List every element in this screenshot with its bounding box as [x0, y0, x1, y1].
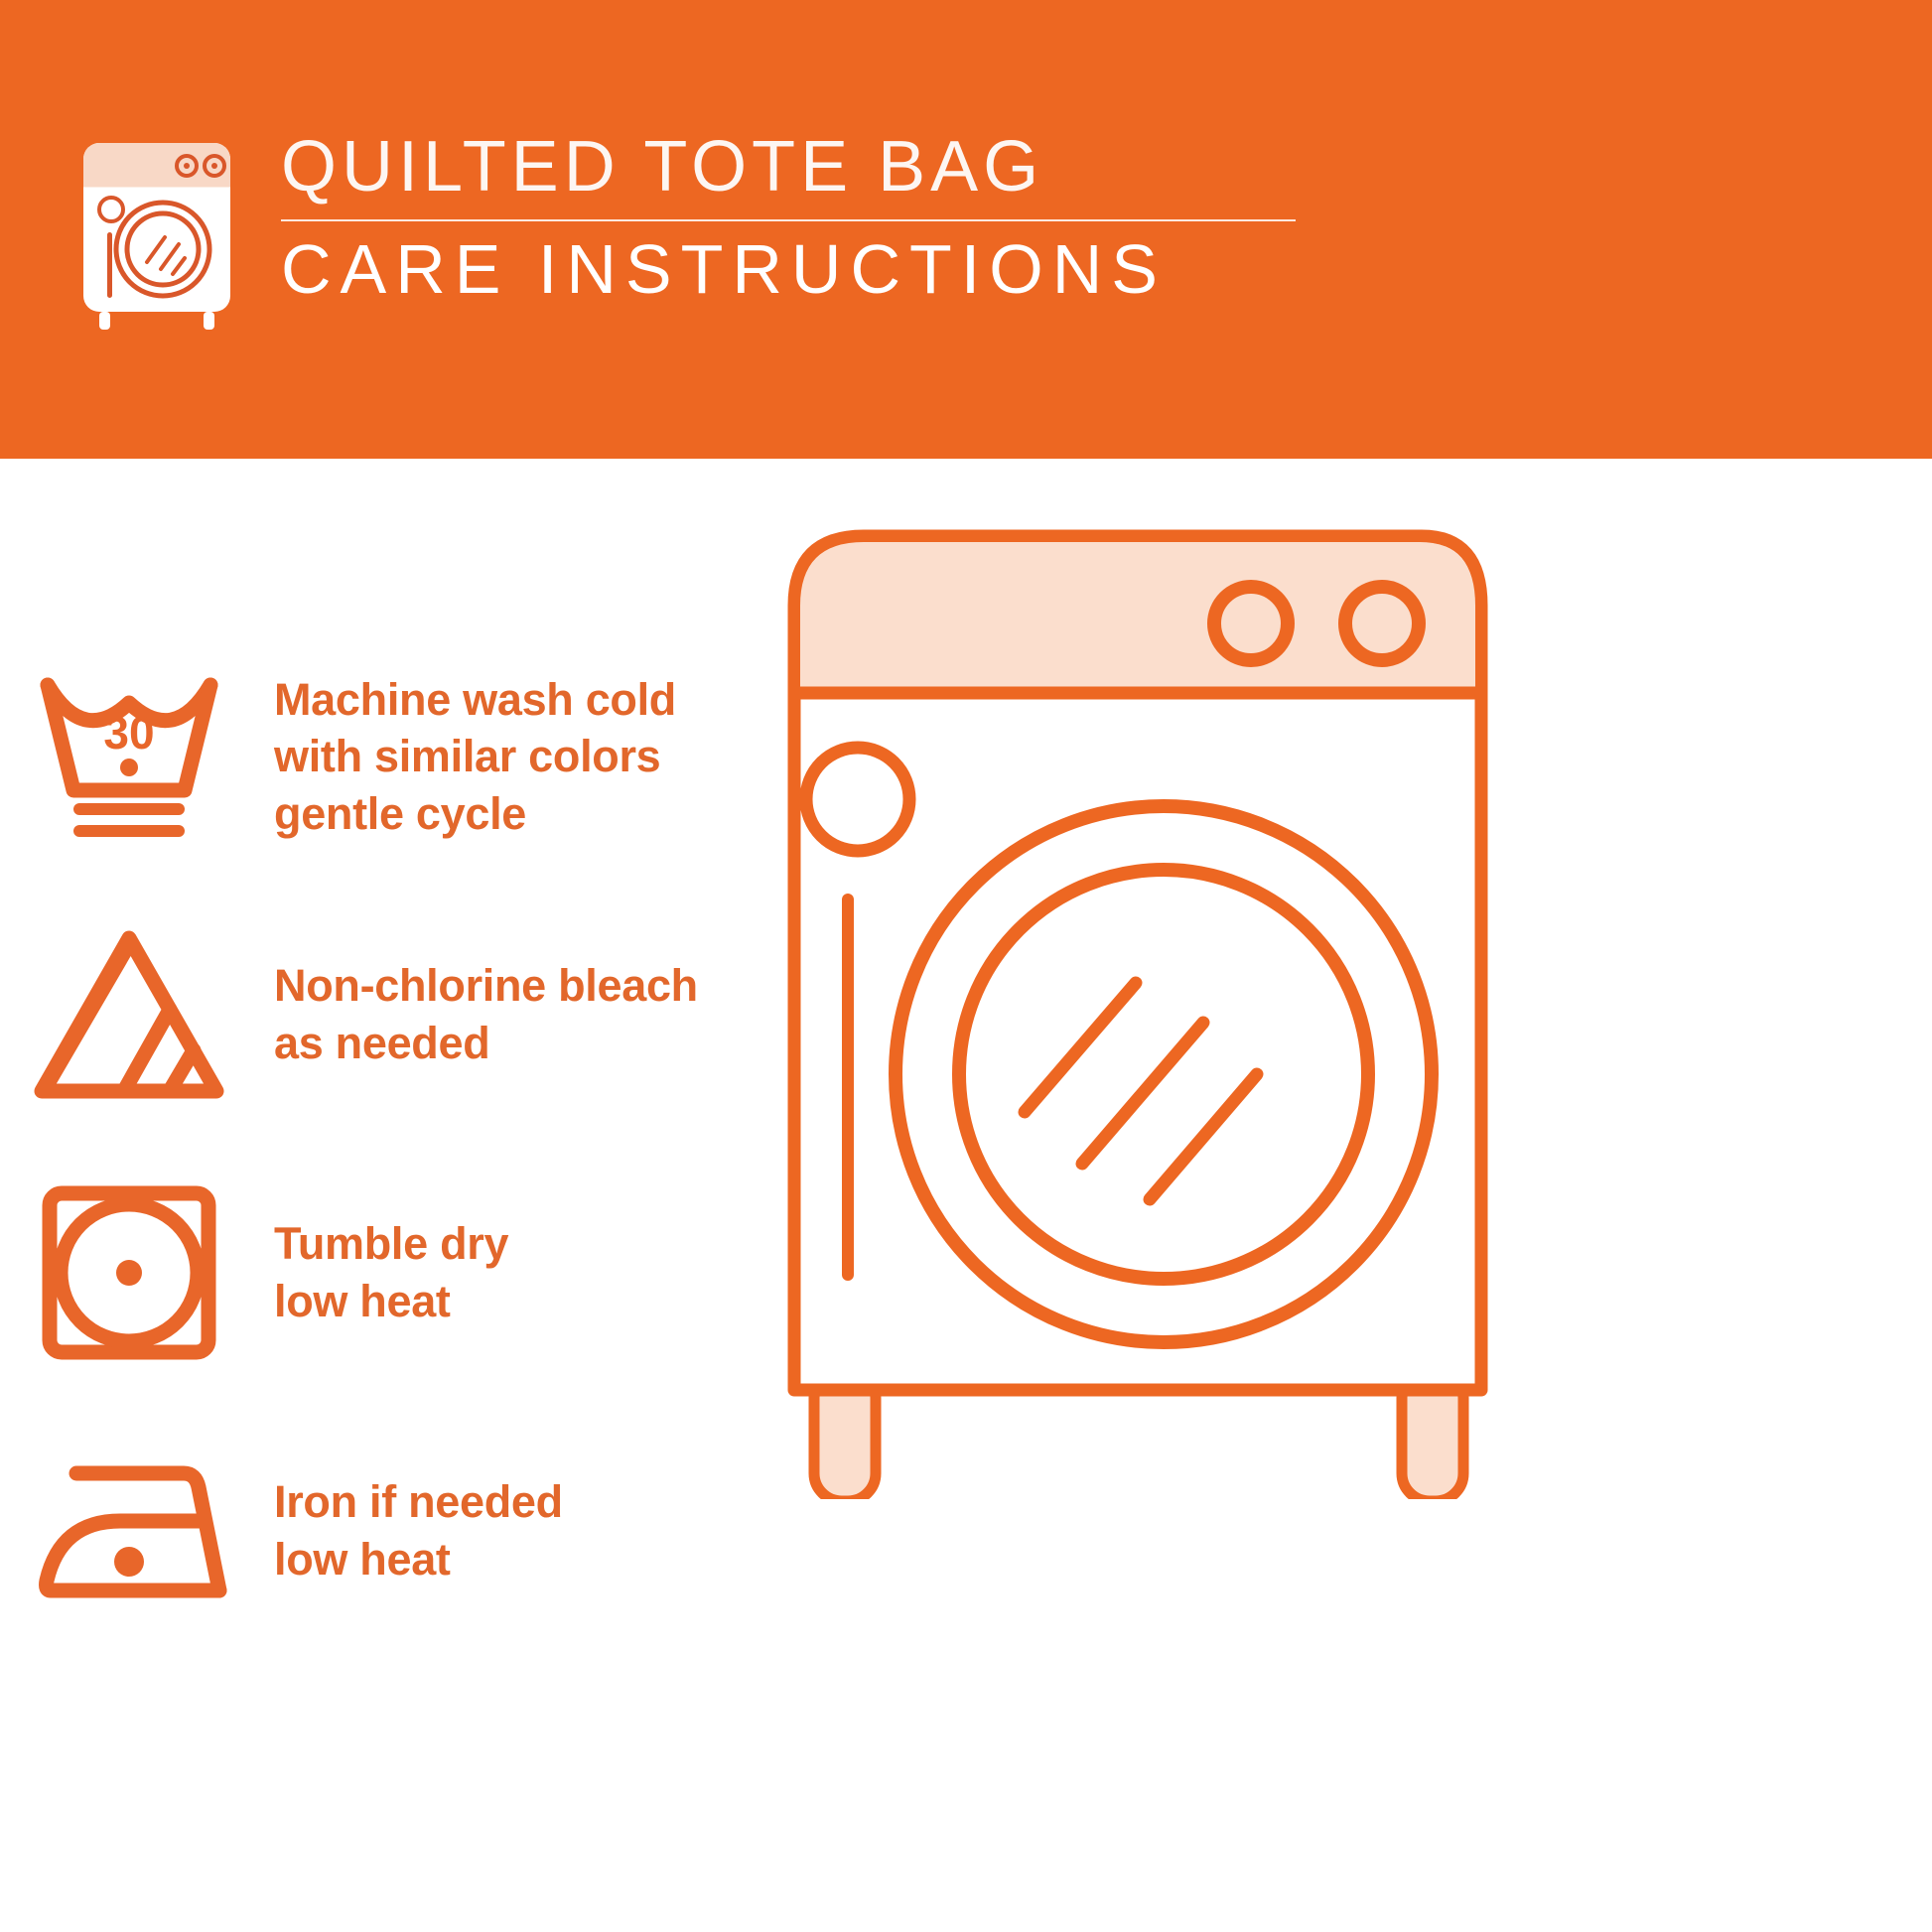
page-subtitle: CARE INSTRUCTIONS: [281, 233, 1323, 307]
non-chlorine-bleach-triangle-icon: [0, 905, 258, 1124]
header-banner: QUILTED TOTE BAG CARE INSTRUCTIONS: [0, 0, 1932, 459]
care-item-label: Iron if needed low heat: [258, 1473, 563, 1587]
iron-low-heat-icon: [0, 1422, 258, 1640]
header-text-block: QUILTED TOTE BAG CARE INSTRUCTIONS: [281, 131, 1323, 307]
tumble-dry-low-icon: [0, 1164, 258, 1382]
machine-wash-30-icon: 30: [0, 647, 258, 866]
care-instructions-page: QUILTED TOTE BAG CARE INSTRUCTIONS 30: [0, 0, 1932, 1932]
care-item-label: Non-chlorine bleach as needed: [258, 957, 698, 1071]
washing-machine-icon: [77, 137, 236, 334]
page-title: QUILTED TOTE BAG: [281, 131, 1323, 204]
wash-temperature-label: 30: [103, 707, 154, 759]
care-item-label: Machine wash cold with similar colors ge…: [258, 671, 676, 843]
care-item-label: Tumble dry low heat: [258, 1215, 508, 1329]
title-divider: [281, 219, 1296, 221]
front-load-washing-machine-illustration: [755, 496, 1539, 1499]
